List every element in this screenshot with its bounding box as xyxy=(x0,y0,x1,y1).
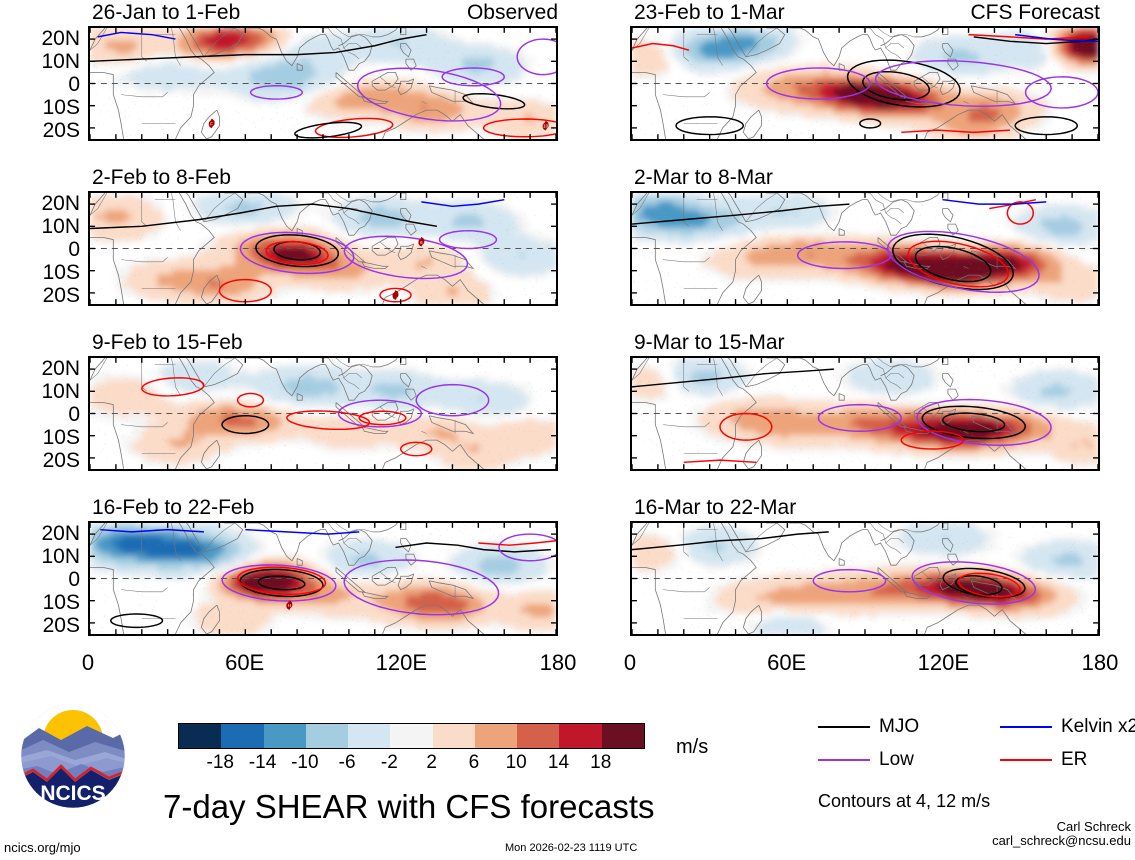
y-tick-label: 20S xyxy=(0,450,80,471)
x-tick-label: 120E xyxy=(903,652,983,674)
map-content-p5 xyxy=(632,28,1098,139)
y-tick-label: 10S xyxy=(0,97,80,118)
x-tick-label: 120E xyxy=(361,652,441,674)
map-panel-p7 xyxy=(630,356,1100,471)
panel-title-p8: 16-Mar to 22-Mar xyxy=(634,497,796,518)
legend-item-mjo: MJO xyxy=(818,717,919,736)
y-tick-label: 0 xyxy=(0,239,80,260)
x-tick-label: 0 xyxy=(48,652,128,674)
colorbar-segment xyxy=(221,724,263,748)
y-tick-label: 10N xyxy=(0,51,80,72)
legend-item-er: ER xyxy=(1000,750,1087,769)
y-tick-label: 20S xyxy=(0,285,80,306)
colorbar-segment xyxy=(559,724,601,748)
y-tick-label: 0 xyxy=(0,404,80,425)
y-tick-label: 20N xyxy=(0,193,80,214)
legend-line-swatch xyxy=(1000,759,1052,761)
x-tick-label: 180 xyxy=(1060,652,1135,674)
map-panel-p3 xyxy=(88,356,558,471)
legend-item-kelvin-x2: Kelvin x2 xyxy=(1000,717,1135,736)
legend-item-low: Low xyxy=(818,750,914,769)
column-header-observed: Observed xyxy=(88,2,558,23)
y-tick-label: 10N xyxy=(0,216,80,237)
legend-label: Low xyxy=(879,750,914,769)
panel-title-p6: 2-Mar to 8-Mar xyxy=(634,167,773,188)
ncics-logo-graphic: NCICS xyxy=(17,700,129,812)
x-tick-label: 180 xyxy=(518,652,598,674)
map-content-p7 xyxy=(632,358,1098,469)
panel-title-p3: 9-Feb to 15-Feb xyxy=(92,332,243,353)
panel-title-p2: 2-Feb to 8-Feb xyxy=(92,167,231,188)
legend-line-swatch xyxy=(818,726,870,728)
map-content-p1: F10 xyxy=(90,28,556,139)
x-tick-label: 60E xyxy=(205,652,285,674)
map-content-p6 xyxy=(632,193,1098,304)
colorbar-tick-label: 18 xyxy=(571,753,631,772)
contour-interval-note: Contours at 4, 12 m/s xyxy=(818,792,990,810)
map-panel-p1: F10 xyxy=(88,26,558,141)
map-panel-p6 xyxy=(630,191,1100,306)
map-panel-p8 xyxy=(630,521,1100,636)
legend-label: ER xyxy=(1061,750,1087,769)
panel-title-p4: 16-Feb to 22-Feb xyxy=(92,497,254,518)
y-tick-label: 10N xyxy=(0,546,80,567)
map-panel-p5 xyxy=(630,26,1100,141)
y-tick-label: 10S xyxy=(0,592,80,613)
y-tick-label: 20S xyxy=(0,120,80,141)
site-url-label: ncics.org/mjo xyxy=(4,841,81,854)
colorbar-segment xyxy=(348,724,390,748)
map-panel-p2: 6 xyxy=(88,191,558,306)
colorbar-segment xyxy=(517,724,559,748)
column-header-forecast: CFS Forecast xyxy=(630,2,1100,23)
x-tick-label: 0 xyxy=(590,652,670,674)
y-tick-label: 10N xyxy=(0,381,80,402)
panel-title-p7: 9-Mar to 15-Mar xyxy=(634,332,785,353)
legend-label: MJO xyxy=(879,717,919,736)
timestamp-label: Mon 2026-02-23 1119 UTC xyxy=(505,843,637,854)
map-content-p2: 6 xyxy=(90,193,556,304)
colorbar-segment xyxy=(390,724,432,748)
svg-text:10: 10 xyxy=(543,124,549,129)
colorbar xyxy=(178,723,645,749)
author-email: carl_schreck@ncsu.edu xyxy=(885,834,1131,848)
main-title: 7-day SHEAR with CFS forecasts xyxy=(163,790,655,823)
y-tick-label: 0 xyxy=(0,74,80,95)
y-tick-label: 20S xyxy=(0,615,80,636)
colorbar-segment xyxy=(433,724,475,748)
legend-line-swatch xyxy=(1000,726,1052,728)
map-content-p4: H xyxy=(90,523,556,634)
svg-text:F: F xyxy=(210,121,213,126)
map-content-p3 xyxy=(90,358,556,469)
ncics-logo: NCICS xyxy=(17,700,129,817)
colorbar-segment xyxy=(306,724,348,748)
y-tick-label: 20N xyxy=(0,28,80,49)
y-tick-label: 20N xyxy=(0,523,80,544)
y-tick-label: 10S xyxy=(0,427,80,448)
colorbar-segment xyxy=(264,724,306,748)
y-tick-label: 10S xyxy=(0,262,80,283)
colorbar-segment xyxy=(475,724,517,748)
map-content-p8 xyxy=(632,523,1098,634)
ncics-logo-text: NCICS xyxy=(40,782,105,805)
colorbar-segment xyxy=(179,724,221,748)
map-panel-p4: H xyxy=(88,521,558,636)
colorbar-segment xyxy=(602,724,644,748)
legend-line-swatch xyxy=(818,759,870,761)
y-tick-label: 20N xyxy=(0,358,80,379)
author-name: Carl Schreck xyxy=(885,820,1131,834)
y-tick-label: 0 xyxy=(0,569,80,590)
colorbar-units-label: m/s xyxy=(676,737,708,757)
legend-label: Kelvin x2 xyxy=(1061,717,1135,736)
author-attribution: Carl Schreck carl_schreck@ncsu.edu xyxy=(885,820,1131,848)
x-tick-label: 60E xyxy=(747,652,827,674)
